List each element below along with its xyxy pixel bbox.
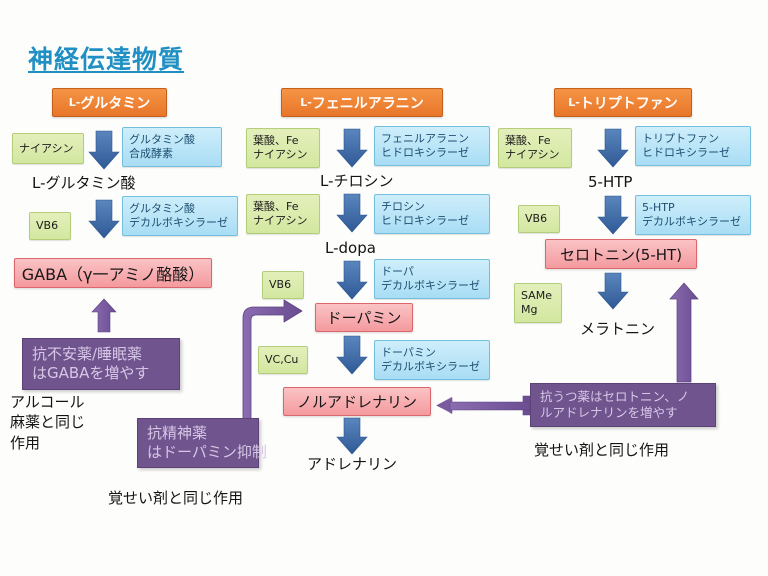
cofactor-label: ナイアシン	[19, 142, 77, 156]
left-arrow-icon	[437, 397, 534, 414]
enzyme-line-1: グルタミン酸	[129, 133, 215, 147]
cofactor-label: VC,Cu	[265, 353, 301, 367]
up-arrow-icon	[92, 299, 116, 332]
cofactor-line-2: ナイアシン	[505, 148, 565, 162]
product-label-l-dopa: L-dopa	[325, 238, 376, 258]
cofactor-box-vb6-5htp: VB6	[518, 205, 560, 233]
cofactor-line-2: ナイアシン	[253, 214, 313, 228]
down-arrow-icon	[337, 129, 367, 167]
cofactor-line-2: Mg	[521, 303, 555, 317]
note-line-1: 抗精神薬	[147, 424, 249, 444]
note-line-1: 抗うつ薬はセロトニン、ノ	[540, 389, 706, 405]
cofactor-box-niacin: ナイアシン	[12, 133, 84, 164]
enzyme-box-tryptophan-hydroxylase: トリプトファン ヒドロキシラーゼ	[635, 126, 751, 166]
enzyme-line-1: フェニルアラニン	[381, 132, 483, 146]
enzyme-line-2: 合成酵素	[129, 147, 215, 161]
cofactor-line-1: 葉酸、Fe	[505, 134, 565, 148]
enzyme-line-1: チロシン	[381, 200, 483, 214]
note-box-anxiolytic: 抗不安薬/睡眠薬 はGABAを増やす	[22, 338, 180, 390]
down-arrow-icon	[337, 261, 367, 299]
diagram-canvas: 神経伝達物質 L-グルタミン ナイアシン グルタミン酸 合成酵素 L-グルタミン…	[0, 0, 768, 576]
product-label-adrenaline: アドレナリン	[307, 454, 397, 474]
footnote-line-2: 麻薬と同じ	[10, 412, 120, 432]
down-arrow-icon	[598, 196, 628, 234]
down-arrow-icon	[89, 200, 119, 238]
product-box-serotonin: セロトニン(5-HT)	[545, 239, 697, 269]
cofactor-box-folate-fe-niacin-1: 葉酸、Fe ナイアシン	[246, 128, 320, 168]
enzyme-line-2: デカルボキシラーゼ	[381, 360, 483, 374]
note-line-1: 抗不安薬/睡眠薬	[32, 345, 170, 365]
enzyme-box-dopamine-decarboxylase: ドーパミン デカルボキシラーゼ	[374, 340, 490, 380]
precursor-label: グルタミン	[80, 93, 150, 113]
page-title: 神経伝達物質	[28, 40, 184, 76]
enzyme-box-glutamine-synthetase: グルタミン酸 合成酵素	[122, 127, 222, 167]
enzyme-line-2: ヒドロキシラーゼ	[642, 146, 744, 160]
cofactor-box-vb6-dopa: VB6	[262, 271, 304, 299]
cofactor-box-vb6: VB6	[29, 212, 71, 240]
down-arrow-icon	[337, 194, 367, 232]
footnote-stimulant-right: 覚せい剤と同じ作用	[534, 440, 669, 460]
down-arrow-icon	[598, 273, 628, 309]
enzyme-line-1: 5-HTP	[642, 201, 744, 215]
enzyme-line-2: ヒドロキシラーゼ	[381, 146, 483, 160]
footnote-line-1: アルコール	[10, 392, 120, 412]
precursor-box-phenylalanine: L-フェニルアラニン	[281, 88, 443, 117]
enzyme-line-2: デカルボキシラーゼ	[381, 279, 483, 293]
enzyme-line-2: ヒドロキシラーゼ	[381, 214, 483, 228]
footnote-stimulant-left: 覚せい剤と同じ作用	[108, 488, 243, 508]
cofactor-line-1: 葉酸、Fe	[253, 134, 313, 148]
note-box-antipsychotic: 抗精神薬 はドーパミン抑制	[137, 418, 259, 468]
enzyme-box-tyrosine-hydroxylase: チロシン ヒドロキシラーゼ	[374, 194, 490, 234]
down-arrow-icon	[89, 131, 119, 169]
cofactor-line-2: ナイアシン	[253, 148, 313, 162]
product-box-noradrenaline: ノルアドレナリン	[283, 387, 431, 416]
enzyme-line-2: デカルボキシラーゼ	[129, 216, 231, 230]
enzyme-box-5htp-decarboxylase: 5-HTP デカルボキシラーゼ	[635, 195, 751, 235]
cofactor-label: VB6	[525, 212, 553, 226]
note-box-antidepressant: 抗うつ薬はセロトニン、ノ ルアドレナリンを増やす	[530, 383, 716, 427]
enzyme-line-1: ドーパ	[381, 265, 483, 279]
precursor-box-tryptophan: L-トリプトファン	[554, 88, 692, 117]
product-label-melatonin: メラトニン	[580, 319, 655, 339]
cofactor-label: VB6	[269, 278, 297, 292]
product-label-l-tyrosine: L-チロシン	[320, 171, 394, 191]
cofactor-box-vc-cu: VC,Cu	[258, 346, 308, 374]
cofactor-box-folate-fe-niacin-3: 葉酸、Fe ナイアシン	[498, 128, 572, 168]
precursor-label: トリプトファン	[580, 93, 678, 113]
product-label-l-glutamate: L-グルタミン酸	[32, 173, 136, 193]
precursor-box-glutamine: L-グルタミン	[52, 88, 167, 117]
enzyme-line-2: デカルボキシラーゼ	[642, 215, 744, 229]
precursor-prefix: L-	[568, 96, 580, 109]
down-arrow-icon	[598, 129, 628, 167]
note-line-2: はGABAを増やす	[32, 364, 170, 384]
footnote-alcohol: アルコール 麻薬と同じ 作用	[10, 392, 120, 453]
enzyme-box-phenylalanine-hydroxylase: フェニルアラニン ヒドロキシラーゼ	[374, 126, 490, 166]
cofactor-line-1: 葉酸、Fe	[253, 200, 313, 214]
precursor-label: フェニルアラニン	[312, 93, 424, 113]
product-box-gaba: GABA（γ一アミノ酪酸）	[14, 258, 212, 288]
up-arrow-icon	[670, 283, 698, 382]
enzyme-line-1: ドーパミン	[381, 346, 483, 360]
product-label-5-htp: 5-HTP	[588, 172, 632, 192]
enzyme-line-1: トリプトファン	[642, 132, 744, 146]
precursor-prefix: L-	[69, 96, 81, 109]
cofactor-line-1: SAMe	[521, 289, 555, 303]
enzyme-line-1: グルタミン酸	[129, 202, 231, 216]
down-arrow-icon	[337, 418, 367, 454]
down-arrow-icon	[337, 336, 367, 374]
enzyme-box-dopa-decarboxylase: ドーパ デカルボキシラーゼ	[374, 259, 490, 299]
cofactor-box-folate-fe-niacin-2: 葉酸、Fe ナイアシン	[246, 194, 320, 234]
note-line-2: はドーパミン抑制	[147, 443, 249, 463]
cofactor-label: VB6	[36, 219, 64, 233]
enzyme-box-glutamate-decarboxylase: グルタミン酸 デカルボキシラーゼ	[122, 196, 238, 236]
precursor-prefix: L-	[300, 96, 312, 109]
product-box-dopamine: ドーパミン	[315, 303, 413, 332]
footnote-line-3: 作用	[10, 433, 120, 453]
cofactor-box-same-mg: SAMe Mg	[514, 283, 562, 323]
note-line-2: ルアドレナリンを増やす	[540, 405, 706, 421]
